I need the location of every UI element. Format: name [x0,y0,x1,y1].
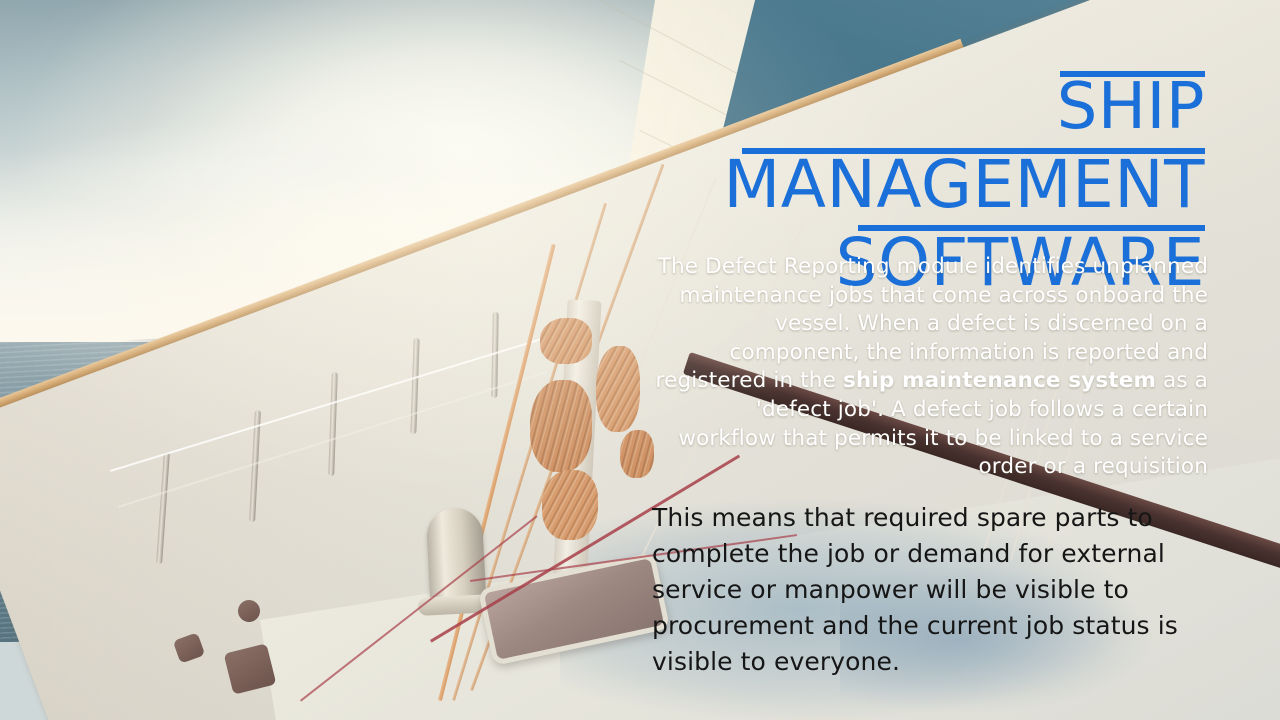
coiled-rope [540,318,592,364]
title-underline-2 [742,148,1205,154]
title-underline-3 [858,225,1205,231]
winch [426,507,487,606]
coiled-rope [620,430,654,478]
presentation-slide: SHIP MANAGEMENT SOFTWARE The Defect Repo… [0,0,1280,720]
body-paragraph-white: The Defect Reporting module identifies u… [652,253,1208,482]
title-line-1: SHIP [585,68,1205,146]
title-underline-1 [1060,71,1205,77]
title-line-2: MANAGEMENT [585,146,1205,224]
paragraph-white-bold: ship maintenance system [843,368,1156,393]
body-paragraph-dark: This means that required spare parts to … [652,500,1212,680]
coiled-rope [596,346,640,432]
coiled-rope [530,380,592,472]
coiled-rope [542,470,598,540]
